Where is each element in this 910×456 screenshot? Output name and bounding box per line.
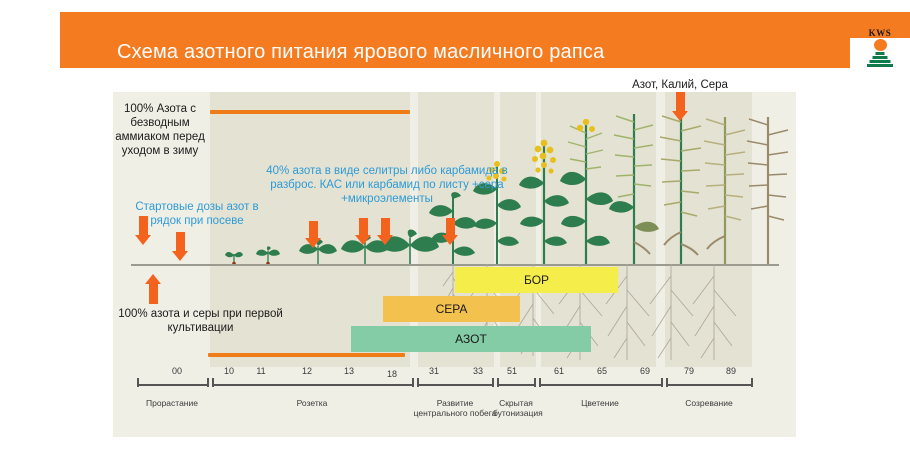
axis-cap-6a	[666, 378, 668, 387]
logo-pyramid-icon	[867, 52, 893, 67]
tick-18: 18	[387, 369, 397, 379]
plant-stage-11	[253, 243, 283, 264]
axis-seg-ripening	[666, 384, 752, 386]
axis-cap-5a	[539, 378, 541, 387]
nutrient-bar-bor-label: БОР	[524, 273, 549, 287]
tick-12: 12	[302, 366, 312, 376]
tick-31: 31	[429, 366, 439, 376]
axis-cap-3a	[417, 378, 419, 387]
stage-label-flowering: Цветение	[555, 398, 645, 408]
axis-seg-budding	[497, 384, 535, 386]
tick-13: 13	[344, 366, 354, 376]
tick-89: 89	[726, 366, 736, 376]
axis-cap-5b	[661, 378, 663, 387]
page-title: Схема азотного питания ярового масличног…	[117, 41, 604, 64]
header-bar: Схема азотного питания ярового масличног…	[60, 12, 910, 68]
axis-seg-rosette	[212, 384, 413, 386]
tick-11: 11	[256, 366, 265, 376]
kws-logo: KWS	[856, 28, 904, 68]
annotation-top-left: 100% Азота с безводным аммиаком перед ух…	[105, 102, 215, 158]
logo-sun-icon	[874, 39, 887, 51]
tick-69: 69	[640, 366, 650, 376]
tick-33: 33	[473, 366, 483, 376]
axis-cap-4b	[534, 378, 536, 387]
stage-label-rosette: Розетка	[267, 398, 357, 408]
stage-label-stem: Развитие центрального побега	[409, 398, 501, 418]
axis-cap-4a	[497, 378, 499, 387]
tick-61: 61	[554, 366, 564, 376]
axis-cap-3b	[492, 378, 494, 387]
plant-stage-10	[221, 246, 247, 264]
chart-panel: БОР СЕРА АЗОТ 100% Азота с безводным амм…	[113, 92, 796, 437]
nutrient-bar-sera-label: СЕРА	[436, 302, 468, 316]
tick-65: 65	[597, 366, 607, 376]
rule-top-autumn	[210, 110, 410, 114]
axis-cap-2b	[412, 378, 414, 387]
tick-10: 10	[224, 366, 234, 376]
tick-79: 79	[684, 366, 694, 376]
nutrient-bar-sera: СЕРА	[383, 296, 520, 322]
axis-cap-2a	[212, 378, 214, 387]
nutrient-bar-azot: АЗОТ	[351, 326, 591, 352]
growth-stage-axis: 00 10 11 12 13 18 31 33 51 61 65 69 79 8…	[113, 364, 796, 434]
logo-wordmark: KWS	[869, 28, 892, 38]
annotation-top-right: Азот, Калий, Сера	[600, 78, 760, 92]
tick-51: 51	[507, 366, 517, 376]
annotation-start-dose: Стартовые дозы азот в рядок при посеве	[128, 200, 266, 228]
annotation-mid-top: 40% азота в виде селитры либо карбамида …	[263, 164, 511, 206]
stage-label-budding: Скрытая бутонизация	[493, 398, 539, 418]
nutrient-bar-bor: БОР	[455, 267, 618, 293]
stage-label-germination: Прорастание	[127, 398, 217, 408]
annotation-bottom-left: 100% азота и серы при первой культивации	[118, 307, 283, 335]
axis-seg-flowering	[539, 384, 662, 386]
nutrient-bar-azot-label: АЗОТ	[455, 332, 487, 346]
axis-seg-germination	[137, 384, 208, 386]
axis-cap-1a	[137, 378, 139, 387]
axis-seg-stem	[417, 384, 493, 386]
axis-cap-1b	[207, 378, 209, 387]
tick-00: 00	[172, 366, 182, 376]
axis-cap-6b	[751, 378, 753, 387]
plant-stage-89	[734, 114, 802, 264]
stage-label-ripening: Созревание	[664, 398, 754, 408]
